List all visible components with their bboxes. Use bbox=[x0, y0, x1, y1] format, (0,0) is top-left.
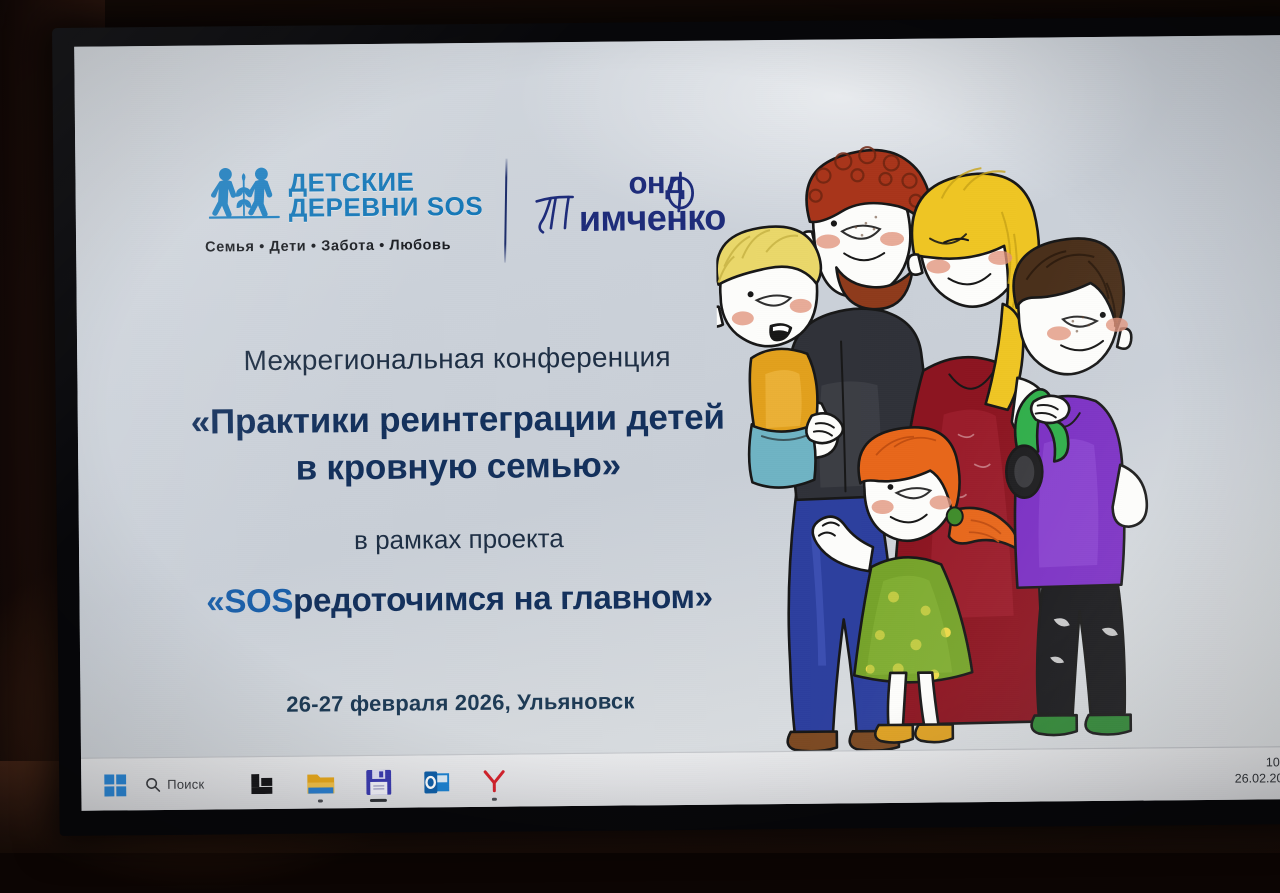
two-children-and-plant-icon bbox=[208, 165, 283, 228]
project-name: «SOSредоточимся на главном» bbox=[149, 577, 769, 621]
display-screen[interactable]: ДЕТСКИЕ ДЕРЕВНИ SOS Семья • Дети • Забот… bbox=[74, 35, 1280, 811]
running-indicator bbox=[492, 798, 497, 801]
room-scene: ДЕТСКИЕ ДЕРЕВНИ SOS Семья • Дети • Забот… bbox=[0, 0, 1280, 853]
start-button[interactable] bbox=[91, 758, 140, 811]
file-explorer-button[interactable] bbox=[296, 756, 345, 809]
clock-time: 10:17 bbox=[1234, 754, 1280, 771]
search-placeholder-label: Поиск bbox=[167, 777, 204, 792]
project-intro: в рамках проекта bbox=[149, 521, 769, 558]
timchenko-fond-word: онд bbox=[628, 165, 684, 202]
clock-widget[interactable]: 10:17 26.02.2026 bbox=[1234, 754, 1280, 787]
presentation-slide[interactable]: ДЕТСКИЕ ДЕРЕВНИ SOS Семья • Дети • Забот… bbox=[74, 35, 1280, 758]
task-view-icon bbox=[251, 773, 273, 793]
save-app-button[interactable] bbox=[354, 756, 403, 809]
yandex-browser-button[interactable] bbox=[470, 755, 519, 808]
taskbar-icons: Поиск bbox=[91, 755, 519, 811]
search-icon bbox=[145, 777, 160, 792]
folder-icon bbox=[307, 771, 334, 794]
taskview-button[interactable] bbox=[238, 757, 287, 810]
timchenko-name-word: имченко bbox=[579, 197, 726, 240]
sos-childrens-villages-logo bbox=[208, 165, 283, 233]
conference-title-line2: в кровную семью» bbox=[148, 441, 768, 493]
project-name-sos: «SOS bbox=[206, 582, 293, 620]
windows-logo-icon bbox=[104, 774, 126, 796]
family-illustration: .ol{stroke:#171717;stroke-width:2.6;stro… bbox=[715, 132, 1221, 752]
windows-taskbar[interactable]: Поиск bbox=[81, 746, 1280, 811]
conference-title-line1: «Практики реинтеграции детей bbox=[148, 394, 768, 446]
slide-text-block: Межрегиональная конференция «Практики ре… bbox=[147, 340, 771, 719]
clock-date: 26.02.2026 bbox=[1235, 770, 1280, 787]
search-box[interactable]: Поиск bbox=[139, 757, 217, 810]
conference-title: «Практики реинтеграции детей в кровную с… bbox=[148, 394, 769, 493]
sos-logo-line2: ДЕРЕВНИ SOS bbox=[289, 194, 484, 221]
logo-divider bbox=[504, 159, 508, 263]
wall-display: ДЕТСКИЕ ДЕРЕВНИ SOS Семья • Дети • Забот… bbox=[52, 16, 1280, 836]
sos-logo-tagline: Семья • Дети • Забота • Любовь bbox=[205, 237, 451, 255]
running-indicator bbox=[318, 799, 323, 802]
outlook-icon bbox=[424, 771, 449, 793]
project-name-rest: редоточимся на главном» bbox=[293, 578, 713, 619]
conference-kicker: Межрегиональная конференция bbox=[147, 340, 767, 378]
date-and-place: 26-27 февраля 2026, Ульяновск bbox=[150, 687, 770, 719]
outlook-button[interactable] bbox=[412, 755, 461, 808]
yandex-y-icon bbox=[483, 769, 505, 793]
floppy-disk-icon bbox=[366, 770, 391, 795]
logo-bar: ДЕТСКИЕ ДЕРЕВНИ SOS Семья • Дети • Забот… bbox=[208, 160, 769, 287]
running-indicator bbox=[370, 799, 387, 802]
sos-logo-wordmark: ДЕТСКИЕ ДЕРЕВНИ SOS bbox=[288, 169, 483, 221]
